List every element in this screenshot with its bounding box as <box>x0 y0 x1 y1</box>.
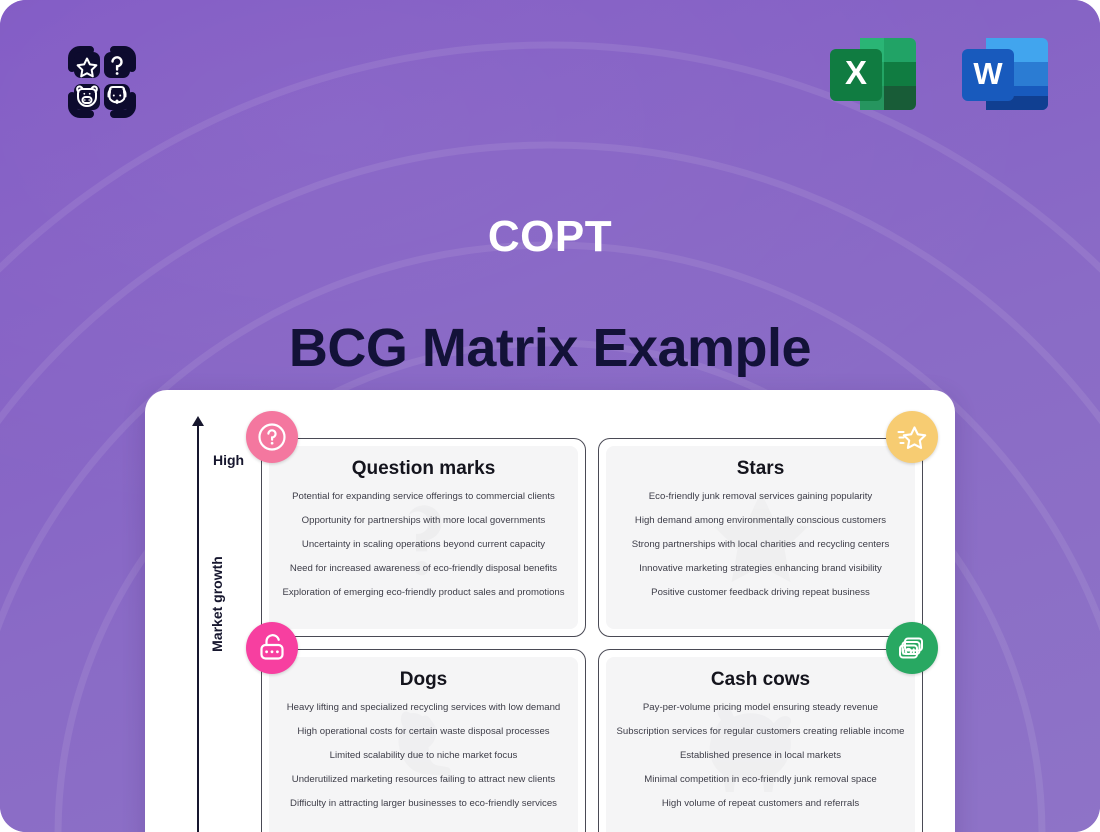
page-title: BCG Matrix Example <box>0 315 1100 381</box>
office-icons-group: X W <box>824 30 1052 122</box>
axis-y-title: Market growth <box>209 534 225 674</box>
bcg-matrix-card: High Market growth <box>145 390 955 832</box>
list-item: Potential for expanding service offering… <box>279 491 568 503</box>
quadrant-dogs[interactable]: Dogs Heavy lifting and specialized recyc… <box>261 649 586 832</box>
bcg-matrix-logo-icon <box>52 32 152 132</box>
list-item: Strong partnerships with local charities… <box>616 539 905 551</box>
star-icon <box>886 411 938 463</box>
list-item: Opportunity for partnerships with more l… <box>279 515 568 527</box>
quadrant-body: Dogs Heavy lifting and specialized recyc… <box>269 657 578 832</box>
market-growth-axis: High Market growth <box>181 416 259 832</box>
quadrant-body: Cash cows Pay-per-volume pricing model e… <box>606 657 915 832</box>
quadrant-body: Stars Eco-friendly junk removal services… <box>606 446 915 629</box>
quadrant-item-list: Heavy lifting and specialized recycling … <box>279 702 568 810</box>
word-letter: W <box>973 56 1003 91</box>
list-item: High demand among environmentally consci… <box>616 515 905 527</box>
list-item: Underutilized marketing resources failin… <box>279 774 568 786</box>
list-item: Need for increased awareness of eco-frie… <box>279 563 568 575</box>
quadrant-title: Stars <box>616 458 905 480</box>
quadrant-title: Question marks <box>279 458 568 480</box>
quadrant-stars[interactable]: Stars Eco-friendly junk removal services… <box>598 438 923 637</box>
axis-line <box>197 422 199 832</box>
list-item: Pay-per-volume pricing model ensuring st… <box>616 702 905 714</box>
slide-canvas: X W COPT BCG Matrix Example High Market … <box>0 0 1100 832</box>
quadrant-cash-cows[interactable]: Cash cows Pay-per-volume pricing model e… <box>598 649 923 832</box>
quadrant-title: Cash cows <box>616 669 905 691</box>
list-item: Uncertainty in scaling operations beyond… <box>279 539 568 551</box>
excel-icon: X <box>824 30 920 122</box>
quadrant-question-marks[interactable]: Question marks Potential for expanding s… <box>261 438 586 637</box>
list-item: Minimal competition in eco-friendly junk… <box>616 774 905 786</box>
list-item: Heavy lifting and specialized recycling … <box>279 702 568 714</box>
list-item: Exploration of emerging eco-friendly pro… <box>279 587 568 599</box>
quadrant-item-list: Pay-per-volume pricing model ensuring st… <box>616 702 905 810</box>
banknotes-icon <box>886 622 938 674</box>
quadrant-body: Question marks Potential for expanding s… <box>269 446 578 629</box>
quadrant-grid: Question marks Potential for expanding s… <box>261 438 923 832</box>
list-item: Positive customer feedback driving repea… <box>616 587 905 599</box>
quadrant-title: Dogs <box>279 669 568 691</box>
word-icon: W <box>956 30 1052 122</box>
list-item: Limited scalability due to niche market … <box>279 750 568 762</box>
unlock-padlock-icon <box>246 622 298 674</box>
question-mark-circle-icon <box>246 411 298 463</box>
excel-letter: X <box>845 54 867 91</box>
brand-eyebrow: COPT <box>0 208 1100 266</box>
axis-high-label: High <box>213 452 244 468</box>
list-item: Difficulty in attracting larger business… <box>279 798 568 810</box>
quadrant-item-list: Eco-friendly junk removal services gaini… <box>616 491 905 599</box>
list-item: Eco-friendly junk removal services gaini… <box>616 491 905 503</box>
list-item: High operational costs for certain waste… <box>279 726 568 738</box>
list-item: Established presence in local markets <box>616 750 905 762</box>
list-item: Innovative marketing strategies enhancin… <box>616 563 905 575</box>
quadrant-item-list: Potential for expanding service offering… <box>279 491 568 599</box>
list-item: High volume of repeat customers and refe… <box>616 798 905 810</box>
list-item: Subscription services for regular custom… <box>616 726 905 738</box>
